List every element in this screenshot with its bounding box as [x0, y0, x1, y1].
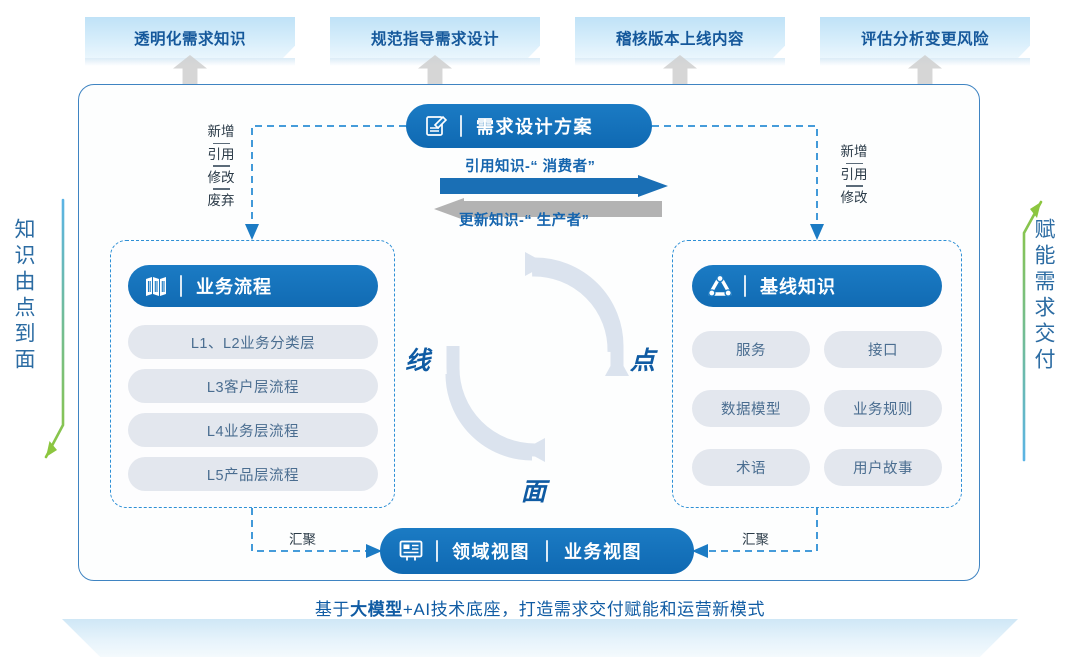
bottom-caption: 基于大模型+AI技术底座，打造需求交付赋能和运营新模式 [0, 595, 1080, 620]
baseline-knowledge-chip-1[interactable]: 服务 [692, 331, 810, 368]
top-banner-1-label: 透明化需求知识 [134, 27, 246, 49]
update-knowledge-label: 更新知识-“ 生产者” [459, 209, 589, 230]
chip-label: L3客户层流程 [207, 376, 299, 397]
annotation-divider [213, 188, 230, 189]
baseline-knowledge-title: 基线知识 [760, 273, 836, 299]
left-gradient-arrow-icon [30, 195, 90, 485]
caption-prefix: 基于 [315, 600, 350, 619]
left-annotation-4: 废弃 [199, 193, 243, 209]
left-annotation-stack: 新增 引用 修改 废弃 [199, 124, 243, 208]
folded-map-icon [144, 275, 168, 297]
business-view-label: 业务视图 [564, 538, 642, 564]
chip-label: 术语 [736, 457, 766, 478]
view-board-icon [398, 539, 424, 563]
baseline-knowledge-header[interactable]: 基线知识 [692, 265, 942, 307]
cycle-bottom-label: 面 [521, 472, 546, 508]
top-banner-1: 透明化需求知识 [85, 17, 295, 58]
baseline-knowledge-chip-3[interactable]: 数据模型 [692, 390, 810, 427]
cite-knowledge-arrow-icon [440, 175, 670, 197]
chip-label: 业务规则 [853, 398, 913, 419]
header-separator [744, 275, 746, 297]
business-process-header[interactable]: 业务流程 [128, 265, 378, 307]
business-process-chip-2[interactable]: L3客户层流程 [128, 369, 378, 403]
cite-knowledge-label: 引用知识-“ 消费者” [465, 155, 595, 176]
view-pill[interactable]: 领域视图 业务视图 [380, 528, 694, 574]
left-annotation-3: 修改 [199, 170, 243, 186]
chip-label: L5产品层流程 [207, 464, 299, 485]
top-banner-2-label: 规范指导需求设计 [371, 27, 499, 49]
requirement-design-plan-pill[interactable]: 需求设计方案 [406, 104, 652, 148]
business-process-title: 业务流程 [196, 273, 272, 299]
bottom-base-trapezoid [62, 619, 1018, 657]
document-edit-icon [424, 114, 448, 138]
chip-label: 接口 [868, 339, 898, 360]
right-side-caption: 赋能需求交付 [1032, 218, 1054, 374]
header-separator [180, 275, 182, 297]
annotation-divider [846, 163, 863, 164]
left-annotation-1: 新增 [199, 124, 243, 140]
right-annotation-3: 修改 [832, 190, 876, 206]
caption-suffix: +AI技术底座，打造需求交付赋能和运营新模式 [403, 600, 765, 619]
right-annotation-stack: 新增 引用 修改 [832, 144, 876, 205]
pill-separator [436, 540, 438, 562]
chip-label: 服务 [736, 339, 766, 360]
chip-label: 用户故事 [853, 457, 913, 478]
annotation-divider [213, 143, 230, 144]
top-banner-2: 规范指导需求设计 [330, 17, 540, 58]
pill-separator [460, 115, 462, 137]
baseline-knowledge-chip-6[interactable]: 用户故事 [824, 449, 942, 486]
requirement-design-plan-label: 需求设计方案 [476, 113, 593, 139]
top-banner-3-label: 稽核版本上线内容 [616, 27, 744, 49]
caption-strong: 大模型 [350, 600, 403, 619]
right-annotation-1: 新增 [832, 144, 876, 160]
left-side-caption: 知识由点到面 [12, 218, 34, 374]
pill-separator-2 [546, 540, 548, 562]
domain-view-label: 领域视图 [452, 538, 530, 564]
cycle-right-label: 点 [630, 341, 655, 377]
aggregate-right-label: 汇聚 [742, 528, 769, 548]
diagram-canvas: 透明化需求知识 规范指导需求设计 稽核版本上线内容 评估分析变更风险 知识由点到… [0, 0, 1080, 664]
baseline-knowledge-chip-4[interactable]: 业务规则 [824, 390, 942, 427]
annotation-divider [846, 185, 863, 186]
aggregate-left-label: 汇聚 [289, 528, 316, 548]
business-process-chip-4[interactable]: L5产品层流程 [128, 457, 378, 491]
baseline-knowledge-chip-5[interactable]: 术语 [692, 449, 810, 486]
top-banner-4: 评估分析变更风险 [820, 17, 1030, 58]
top-banner-4-label: 评估分析变更风险 [861, 27, 989, 49]
cycle-ring [428, 248, 648, 478]
cycle-left-label: 线 [405, 341, 430, 377]
left-annotation-2: 引用 [199, 147, 243, 163]
right-annotation-2: 引用 [832, 167, 876, 183]
business-process-chip-3[interactable]: L4业务层流程 [128, 413, 378, 447]
chip-label: 数据模型 [721, 398, 781, 419]
baseline-knowledge-chip-2[interactable]: 接口 [824, 331, 942, 368]
chip-label: L4业务层流程 [207, 420, 299, 441]
top-banner-3: 稽核版本上线内容 [575, 17, 785, 58]
network-nodes-icon [708, 274, 732, 298]
annotation-divider [213, 165, 230, 166]
chip-label: L1、L2业务分类层 [191, 332, 315, 353]
business-process-chip-1[interactable]: L1、L2业务分类层 [128, 325, 378, 359]
